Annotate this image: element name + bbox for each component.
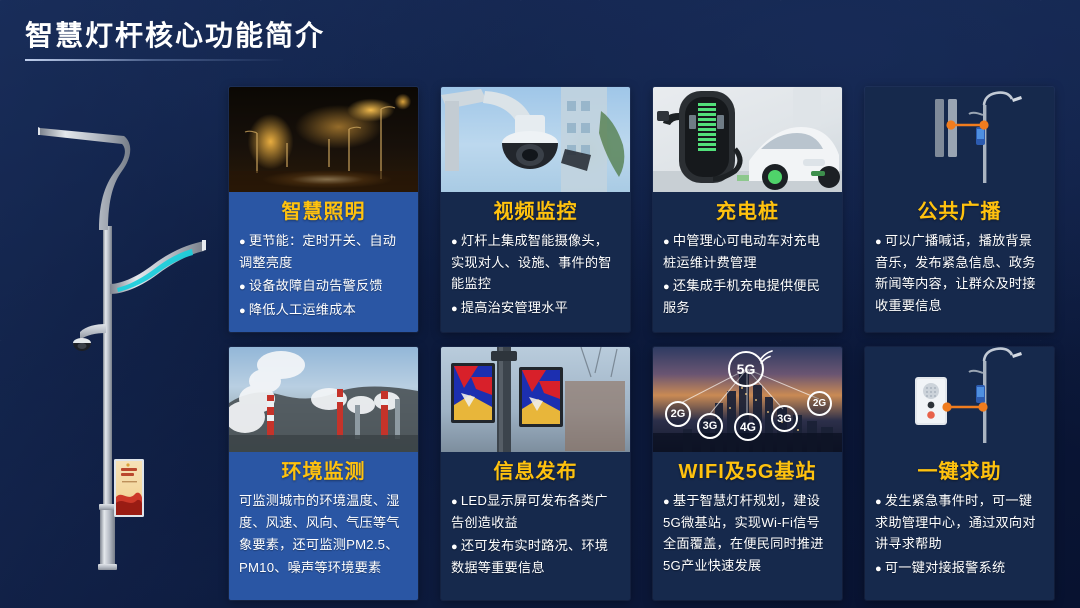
network-node-2g-right: 2G (807, 391, 832, 416)
card-smart-lighting[interactable]: 智慧照明 ●更节能：定时开关、自动调整亮度 ●设备故障自动告警反馈 ●降低人工运… (229, 87, 418, 332)
bullet-dot-icon: ● (451, 541, 458, 553)
card-text: 可监测城市的环境温度、湿度、风速、风向、气压等气象要素，还可监测PM2.5、PM… (239, 490, 408, 579)
card-image-factory-emission (229, 347, 418, 452)
card-title: WIFI及5G基站 (653, 452, 842, 490)
card-bullet: ●LED显示屏可发布各类广告创造收益 (451, 490, 620, 533)
bullet-dot-icon: ● (239, 305, 246, 317)
card-title: 信息发布 (441, 452, 630, 490)
card-body: ●灯杆上集成智能摄像头，实现对人、设施、事件的智能监控 ●提高治安管理水平 (441, 230, 630, 330)
card-one-key-help[interactable]: 一键求助 ●发生紧急事件时，可一键求助管理中心，通过双向对讲寻求帮助 ●可一键对… (865, 347, 1054, 600)
card-image-night-street (229, 87, 418, 192)
card-image-city-network: 5G 2G 3G 4G 3G 2G (653, 347, 842, 452)
card-body: 可监测城市的环境温度、湿度、风速、风向、气压等气象要素，还可监测PM2.5、PM… (229, 490, 418, 589)
card-body: ●LED显示屏可发布各类广告创造收益 ●还可发布实时路况、环境数据等重要信息 (441, 490, 630, 590)
bullet-dot-icon: ● (451, 496, 458, 508)
network-node-2g-left: 2G (665, 401, 691, 427)
card-title: 视频监控 (441, 192, 630, 230)
bullet-dot-icon: ● (451, 303, 458, 315)
card-title: 环境监测 (229, 452, 418, 490)
card-body: ●更节能：定时开关、自动调整亮度 ●设备故障自动告警反馈 ●降低人工运维成本 (229, 230, 418, 332)
card-title: 一键求助 (865, 452, 1054, 490)
bullet-dot-icon: ● (875, 496, 882, 508)
card-bullet: ●中管理心可电动车对充电桩运维计费管理 (663, 230, 832, 273)
card-image-ev-charger (653, 87, 842, 192)
card-body: ●发生紧急事件时，可一键求助管理中心，通过双向对讲寻求帮助 ●可一键对接报警系统 (865, 490, 1054, 590)
bullet-dot-icon: ● (875, 563, 882, 575)
card-bullet: ●设备故障自动告警反馈 (239, 275, 408, 297)
bullet-dot-icon: ● (239, 236, 246, 248)
card-public-broadcast[interactable]: 公共广播 ●可以广播喊话，播放背景音乐，发布紧急信息、政务新闻等内容，让群众及时… (865, 87, 1054, 332)
card-charging-pile[interactable]: 充电桩 ●中管理心可电动车对充电桩运维计费管理 ●还集成手机充电提供便民服务 (653, 87, 842, 332)
card-bullet: ●发生紧急事件时，可一键求助管理中心，通过双向对讲寻求帮助 (875, 490, 1044, 555)
card-bullet: ●提高治安管理水平 (451, 297, 620, 319)
card-bullet: ●还集成手机充电提供便民服务 (663, 275, 832, 318)
bullet-dot-icon: ● (663, 496, 670, 508)
card-bullet: ●可以广播喊话，播放背景音乐，发布紧急信息、政务新闻等内容，让群众及时接收重要信… (875, 230, 1044, 316)
card-image-speaker-pole (865, 87, 1054, 192)
title-underline-divider (25, 59, 283, 61)
slide-header: 智慧灯杆核心功能简介 (0, 0, 1080, 72)
card-bullet: ●灯杆上集成智能摄像头，实现对人、设施、事件的智能监控 (451, 230, 620, 295)
page-title: 智慧灯杆核心功能简介 (25, 14, 325, 54)
card-image-led-billboard (441, 347, 630, 452)
card-bullet: ●还可发布实时路况、环境数据等重要信息 (451, 535, 620, 578)
card-video-surveillance[interactable]: 视频监控 ●灯杆上集成智能摄像头，实现对人、设施、事件的智能监控 ●提高治安管理… (441, 87, 630, 332)
card-title: 智慧照明 (229, 192, 418, 230)
card-body: ●中管理心可电动车对充电桩运维计费管理 ●还集成手机充电提供便民服务 (653, 230, 842, 330)
bullet-dot-icon: ● (663, 281, 670, 293)
wifi-signal-icon (756, 348, 776, 364)
smart-lamp-post-illustration (18, 78, 218, 600)
network-node-3g-left: 3G (697, 413, 723, 439)
network-node-3g-right: 3G (771, 405, 798, 432)
bullet-dot-icon: ● (875, 236, 882, 248)
card-bullet: ●更节能：定时开关、自动调整亮度 (239, 230, 408, 273)
card-body: ●可以广播喊话，播放背景音乐，发布紧急信息、政务新闻等内容，让群众及时接收重要信… (865, 230, 1054, 328)
card-body: ●基于智慧灯杆规划，建设5G微基站，实现Wi-Fi信号全面覆盖，在便民同时推进5… (653, 490, 842, 588)
card-information-release[interactable]: 信息发布 ●LED显示屏可发布各类广告创造收益 ●还可发布实时路况、环境数据等重… (441, 347, 630, 600)
card-bullet: ●可一键对接报警系统 (875, 557, 1044, 579)
card-image-emergency-call-box (865, 347, 1054, 452)
card-title: 公共广播 (865, 192, 1054, 230)
bullet-dot-icon: ● (239, 281, 246, 293)
bullet-dot-icon: ● (663, 236, 670, 248)
network-node-4g: 4G (734, 413, 762, 441)
card-title: 充电桩 (653, 192, 842, 230)
card-environment-monitoring[interactable]: 环境监测 可监测城市的环境温度、湿度、风速、风向、气压等气象要素，还可监测PM2… (229, 347, 418, 600)
card-image-dome-camera (441, 87, 630, 192)
card-wifi-5g-base-station[interactable]: 5G 2G 3G 4G 3G 2G WIFI及5G基站 ●基于智慧灯杆规划，建设… (653, 347, 842, 600)
bullet-dot-icon: ● (451, 236, 458, 248)
card-bullet: ●降低人工运维成本 (239, 299, 408, 321)
card-bullet: ●基于智慧灯杆规划，建设5G微基站，实现Wi-Fi信号全面覆盖，在便民同时推进5… (663, 490, 832, 576)
